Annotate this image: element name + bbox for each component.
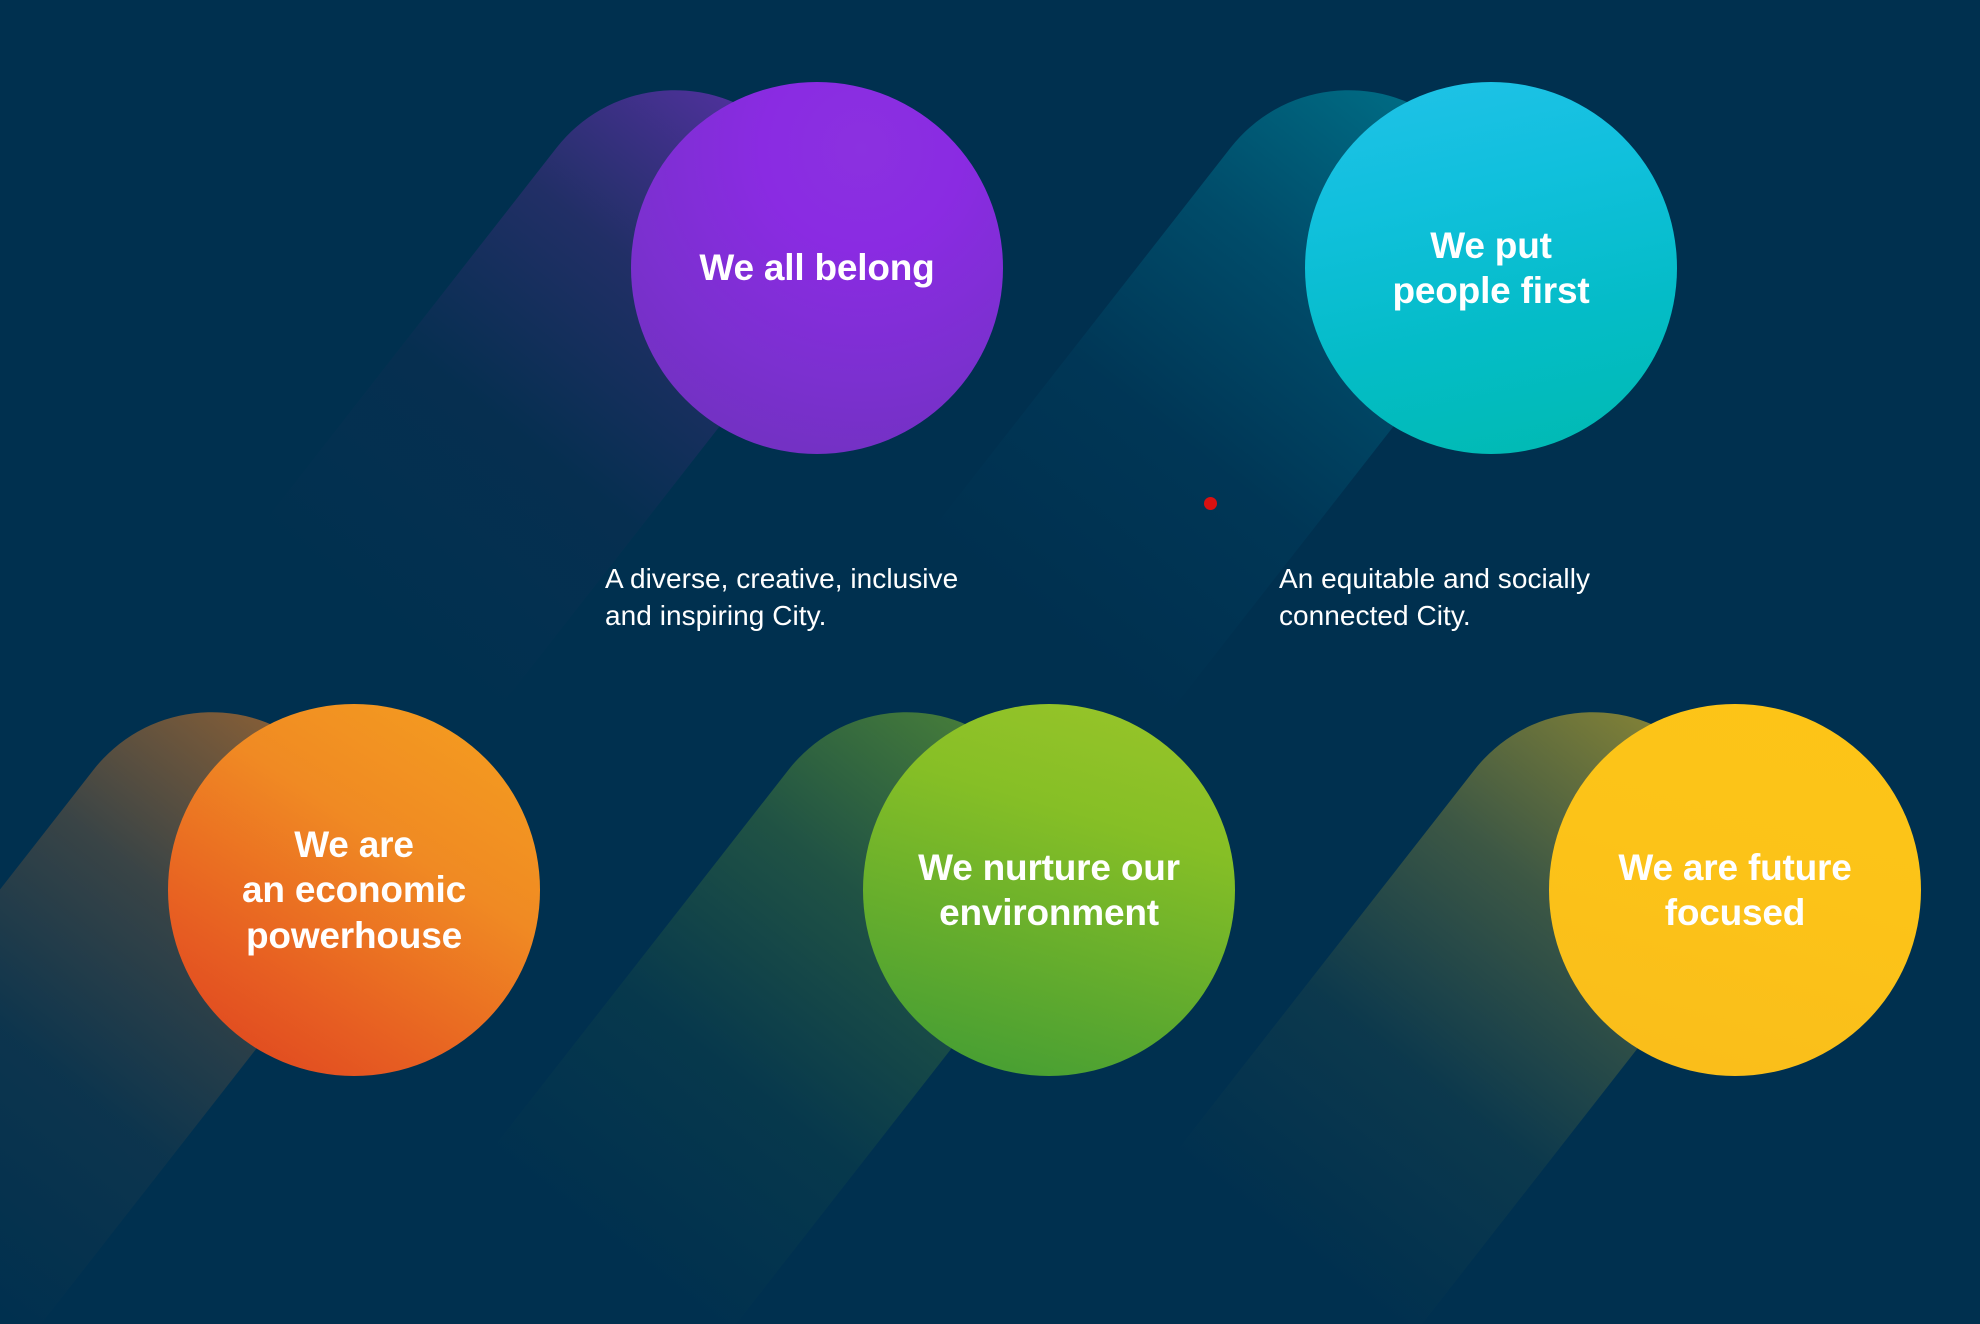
- bubble-we-all-belong[interactable]: We all belong: [631, 82, 1003, 454]
- bubble-future-focused[interactable]: We are future focused: [1549, 704, 1921, 1076]
- bubble-title-economic-powerhouse: We are an economic powerhouse: [224, 822, 484, 957]
- caption-we-all-belong: A diverse, creative, inclusive and inspi…: [605, 560, 958, 634]
- vision-pillars-board: We all belong A diverse, creative, inclu…: [0, 0, 1980, 1324]
- cursor-marker-dot: [1204, 497, 1217, 510]
- caption-we-put-people-first: An equitable and socially connected City…: [1279, 560, 1590, 634]
- bubble-title-we-all-belong: We all belong: [681, 245, 952, 290]
- bubble-title-future-focused: We are future focused: [1600, 845, 1869, 935]
- bubble-we-put-people-first[interactable]: We put people first: [1305, 82, 1677, 454]
- bubble-title-nurture-environment: We nurture our environment: [900, 845, 1198, 935]
- bubble-title-we-put-people-first: We put people first: [1374, 223, 1607, 313]
- bubble-nurture-environment[interactable]: We nurture our environment: [863, 704, 1235, 1076]
- bubble-economic-powerhouse[interactable]: We are an economic powerhouse: [168, 704, 540, 1076]
